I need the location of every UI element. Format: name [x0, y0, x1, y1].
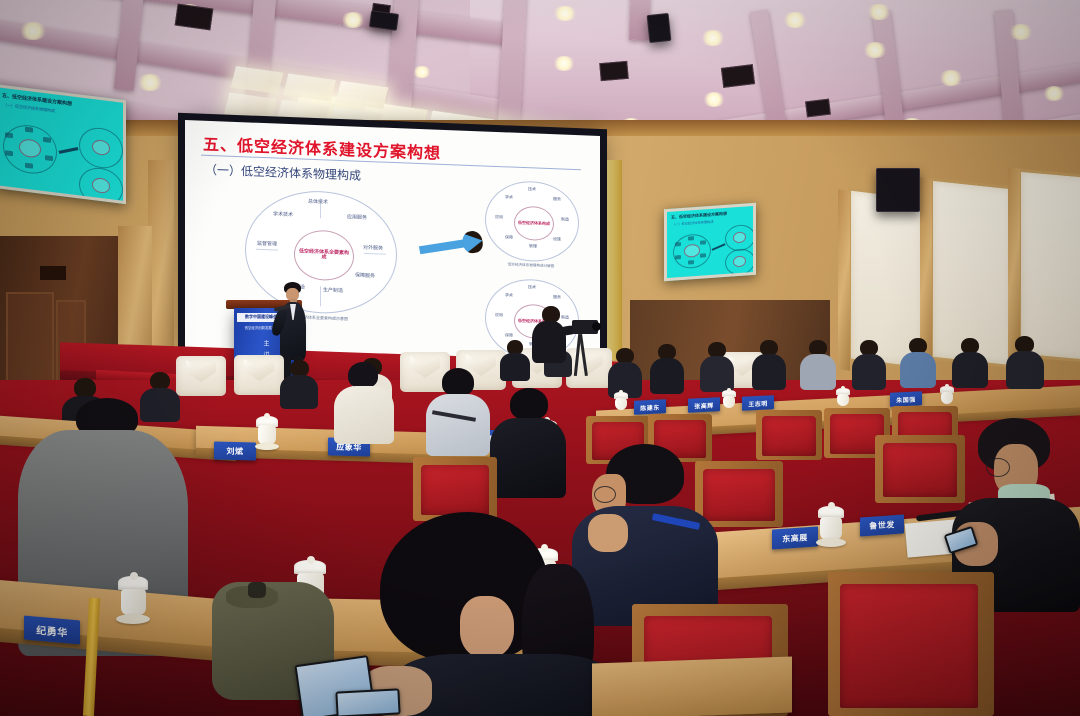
seg-3: 保障服务: [350, 273, 380, 279]
seg-0: 总体技术: [302, 200, 334, 206]
chair-b3: [760, 414, 818, 460]
main-radial-diagram: 低空经济体系全要素构成 总体技术 应用服务 对外服务 保障服务 生产制造 设施建…: [245, 188, 397, 316]
side-monitor-left: 五、低空经济体系建设方案构想 （一）低空经济体系物理构成: [0, 84, 126, 204]
attendee-ra-2: [650, 344, 684, 392]
placard-text: 王志明: [748, 398, 768, 408]
attendee-ra-9: [1006, 336, 1044, 386]
placard-donggao: 东高展: [772, 526, 818, 549]
teacup-a4: [940, 386, 954, 406]
placard-text: 纪勇华: [36, 621, 68, 639]
placard-lushi: 鲁世发: [860, 514, 904, 536]
teacup-b1: [256, 416, 278, 448]
placard-text: 鲁世发: [869, 519, 895, 532]
teacup-a1: [614, 392, 628, 412]
chair-c3: [880, 440, 960, 502]
s2-seg-3: 设施: [546, 237, 568, 242]
s2-seg-5: 保障: [498, 235, 520, 240]
attendee-ra-1: [608, 348, 642, 396]
secondary-top-center: 低空经济体系构成: [514, 206, 554, 242]
teacup-a3: [836, 388, 850, 408]
s3-seg-1: 服务: [546, 295, 568, 300]
slide-subtitle: （一）低空经济体系物理构成: [205, 161, 361, 184]
s3-seg-0: 技术: [520, 285, 544, 290]
attendee-far-5: [500, 340, 530, 380]
s2-seg-2: 制造: [554, 217, 576, 222]
ceiling-speaker-right: [647, 13, 672, 43]
videographer: [528, 306, 598, 384]
placard-wang: 王志明: [742, 395, 774, 411]
placard-text: 陈建东: [640, 402, 660, 412]
s2-seg-4: 管理: [522, 244, 544, 249]
seg-7: 学术技术: [268, 212, 298, 218]
attendee-ra-7: [900, 338, 936, 386]
placard-text: 东高展: [782, 532, 808, 545]
placard-liubin: 刘斌: [214, 441, 256, 460]
placard-chen: 陈建东: [634, 399, 666, 415]
teacup-c1: [818, 506, 844, 544]
s2-seg-6: 应用: [488, 215, 510, 220]
front-chair-1: [176, 356, 226, 396]
desk-foreground-right: [592, 657, 792, 716]
seg-6: 监督管理: [252, 242, 282, 248]
teacup-a2: [722, 390, 736, 410]
tablet-center-desk[interactable]: [335, 688, 400, 716]
attendee-b2: [426, 368, 490, 454]
conference-hall-photo: 五、低空经济体系建设方案构想 （一）低空经济体系物理构成 低空经济体系全要素构成…: [0, 0, 1080, 716]
secondary-top-caption: 低空经济体系物理构成分解图: [485, 262, 577, 271]
attendee-ra-3: [700, 342, 734, 390]
front-chair-2: [234, 355, 284, 395]
wall-speaker-right: [876, 168, 920, 212]
teacup-fg1: [118, 576, 148, 620]
s3-seg-7: 学术: [498, 293, 520, 298]
attendee-ra-6: [852, 340, 886, 388]
s2-seg-1: 服务: [546, 197, 568, 202]
placard-jiyonghua: 纪勇华: [24, 616, 80, 645]
placard-text: 刘斌: [227, 445, 244, 456]
placard-zhang: 张高辉: [688, 397, 720, 413]
attendee-b3: [490, 388, 566, 496]
seg-2: 对外服务: [358, 246, 388, 252]
s3-seg-5: 保障: [498, 333, 520, 338]
seg-1: 应用服务: [342, 215, 372, 221]
s2-seg-0: 技术: [520, 187, 544, 192]
s3-seg-6: 应用: [488, 313, 510, 318]
attendee-ra-5: [800, 340, 836, 388]
secondary-radial-top: 低空经济体系构成 技术 服务 制造 设施 管理 保障 应用 学术: [485, 180, 579, 264]
wall-panel-3: [1018, 169, 1080, 364]
chair-fg-right-2: [836, 580, 986, 716]
placard-text: 朱国强: [896, 394, 916, 404]
side-monitor-right: 五、低空经济体系建设方案构想 （一）低空经济体系物理构成: [664, 203, 756, 281]
s2-seg-7: 学术: [498, 195, 520, 200]
attendee-braided-hair-phone: [352, 512, 622, 716]
placard-text: 张高辉: [694, 400, 714, 410]
attendee-b1: [334, 362, 394, 442]
flow-arrow: [418, 229, 487, 261]
placard-zhu: 朱国强: [890, 391, 922, 407]
attendee-ra-8: [952, 338, 988, 386]
attendee-far-3: [280, 360, 318, 406]
attendee-ra-4: [752, 340, 786, 388]
main-diagram-center: 低空经济体系全要素构成: [294, 229, 354, 281]
seg-4: 生产制造: [318, 288, 348, 294]
